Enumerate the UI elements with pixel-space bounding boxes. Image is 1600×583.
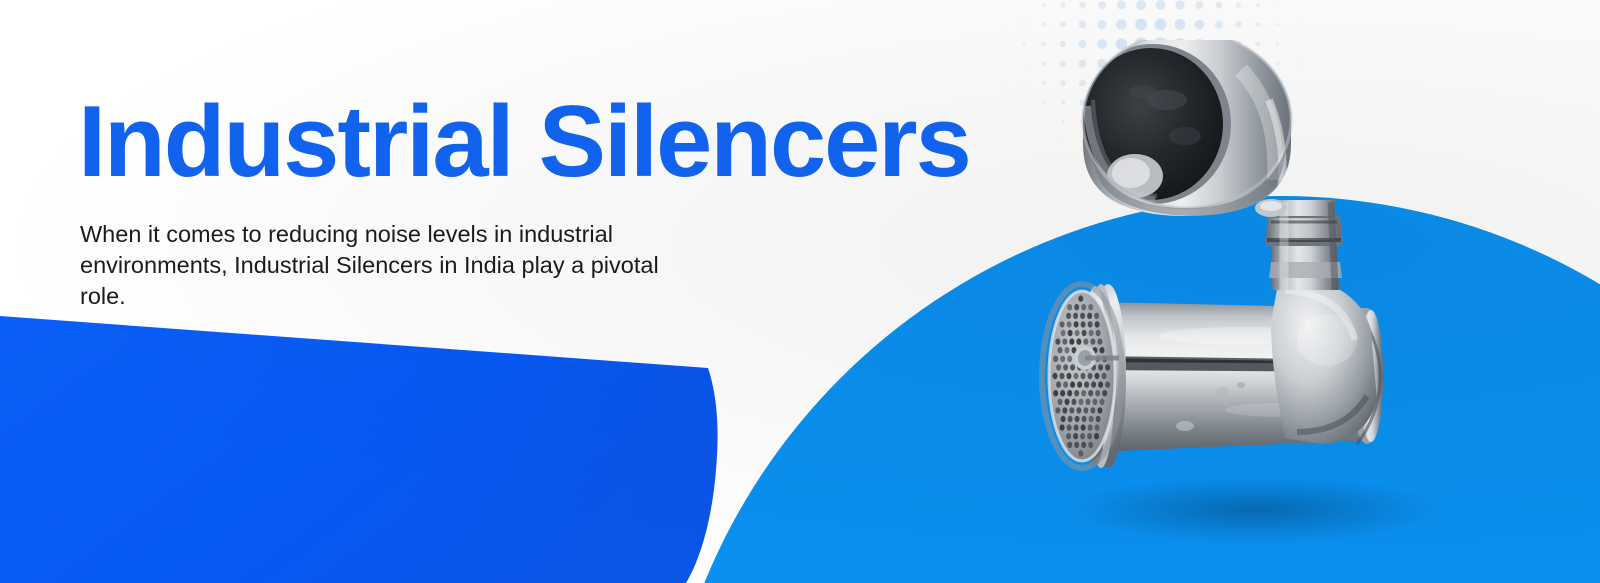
product-shadow [1065, 476, 1445, 544]
industrial-silencers-hero-banner: Industrial Silencers When it comes to re… [0, 0, 1600, 583]
banner-subtitle: When it comes to reducing noise levels i… [80, 219, 680, 312]
industrial-silencer-photo [1035, 40, 1515, 570]
silencer-elbow [1271, 278, 1377, 444]
page-title: Industrial Silencers [78, 92, 970, 193]
silencer-cap [1075, 40, 1291, 217]
